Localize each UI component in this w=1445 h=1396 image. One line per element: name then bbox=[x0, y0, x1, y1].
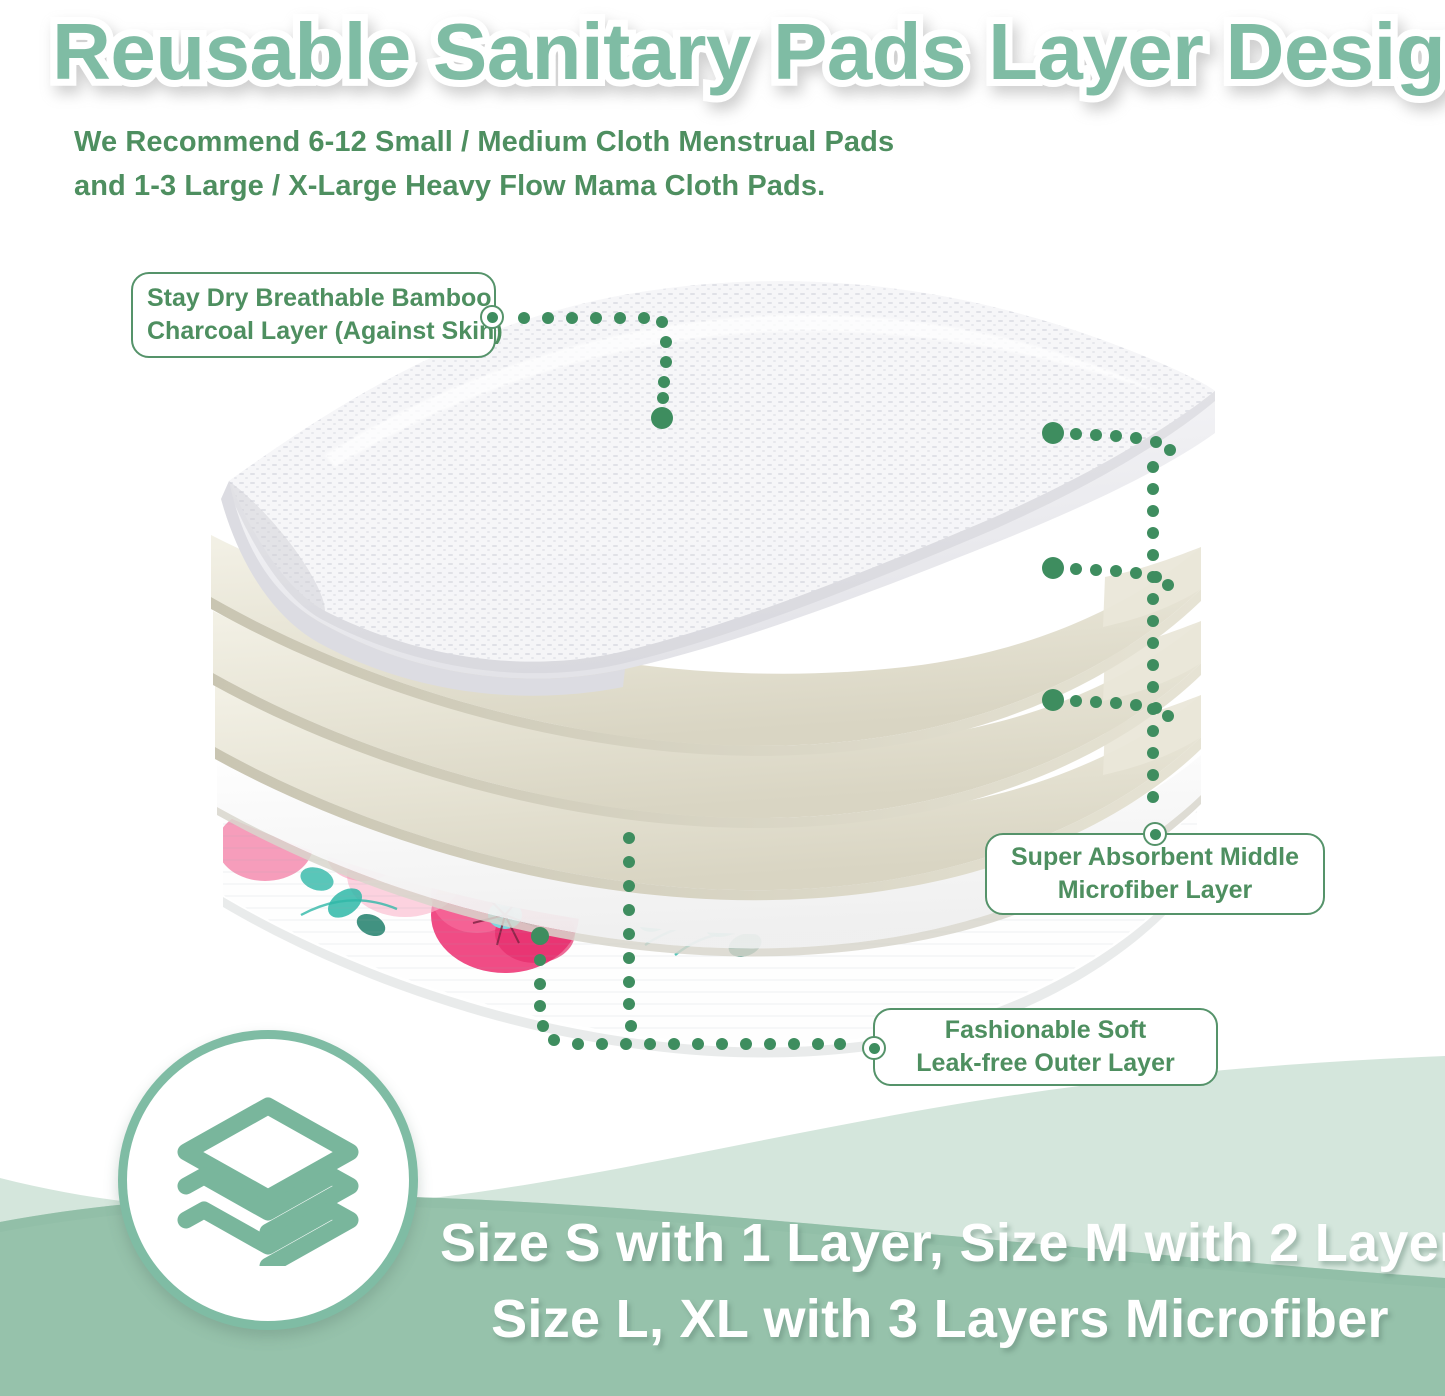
callout-bamboo-charcoal-layer[interactable]: Stay Dry Breathable Bamboo Charcoal Laye… bbox=[131, 272, 496, 358]
title-area: Reusable Sanitary Pads Layer Design bbox=[0, 6, 1445, 106]
subtitle-line-1: We Recommend 6-12 Small / Medium Cloth M… bbox=[74, 120, 1074, 164]
page-title: Reusable Sanitary Pads Layer Design bbox=[52, 6, 1378, 98]
layers-badge bbox=[118, 1030, 418, 1330]
subtitle-line-2: and 1-3 Large / X-Large Heavy Flow Mama … bbox=[74, 164, 1074, 208]
connector-dot-outer-layer bbox=[862, 1036, 886, 1060]
layers-stack-icon bbox=[170, 1094, 366, 1266]
banner-line-2: Size L, XL with 3 Layers Microfiber bbox=[440, 1281, 1440, 1357]
banner-line-1: Size S with 1 Layer, Size M with 2 Layer… bbox=[440, 1205, 1440, 1281]
callout-top-line-2: Charcoal Layer (Against Skin) bbox=[147, 315, 503, 348]
callout-bottom-line-2: Leak-free Outer Layer bbox=[916, 1047, 1174, 1080]
callout-top-line-1: Stay Dry Breathable Bamboo bbox=[147, 282, 492, 315]
subtitle: We Recommend 6-12 Small / Medium Cloth M… bbox=[74, 120, 1074, 208]
connector-dot-microfiber-layer bbox=[1143, 822, 1167, 846]
callout-bottom-line-1: Fashionable Soft bbox=[945, 1014, 1146, 1047]
connector-dot-bamboo-charcoal-layer bbox=[480, 305, 504, 329]
callout-outer-layer[interactable]: Fashionable Soft Leak-free Outer Layer bbox=[873, 1008, 1218, 1086]
callout-middle-line-2: Microfiber Layer bbox=[1058, 874, 1253, 907]
banner-text: Size S with 1 Layer, Size M with 2 Layer… bbox=[440, 1205, 1440, 1357]
infographic-canvas: Reusable Sanitary Pads Layer Design We R… bbox=[0, 0, 1445, 1396]
